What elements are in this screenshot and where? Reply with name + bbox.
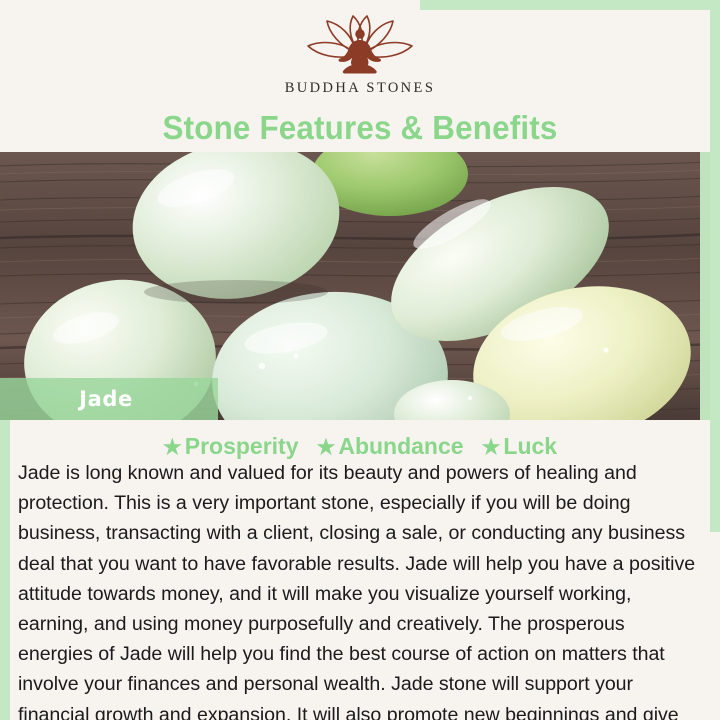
stone-description: Jade is long known and valued for its be… xyxy=(18,458,702,720)
benefit-label: Prosperity xyxy=(185,433,299,459)
benefit-item-luck: ★Luck xyxy=(482,433,558,459)
stone-name-label: Jade xyxy=(0,378,218,420)
star-icon: ★ xyxy=(317,436,336,459)
benefit-label: Abundance xyxy=(338,433,463,459)
star-icon: ★ xyxy=(163,436,182,459)
brand-logo: BUDDHA STONES xyxy=(0,14,720,106)
star-icon: ★ xyxy=(482,436,501,459)
lotus-meditation-icon xyxy=(294,14,426,78)
page-title: Stone Features & Benefits xyxy=(18,108,702,148)
infographic-page: BUDDHA STONES Stone Features & Benefits xyxy=(0,0,720,720)
benefit-item-prosperity: ★Prosperity xyxy=(163,433,299,459)
benefit-label: Luck xyxy=(503,433,557,459)
brand-name: BUDDHA STONES xyxy=(285,80,436,97)
benefit-item-abundance: ★Abundance xyxy=(317,433,464,459)
